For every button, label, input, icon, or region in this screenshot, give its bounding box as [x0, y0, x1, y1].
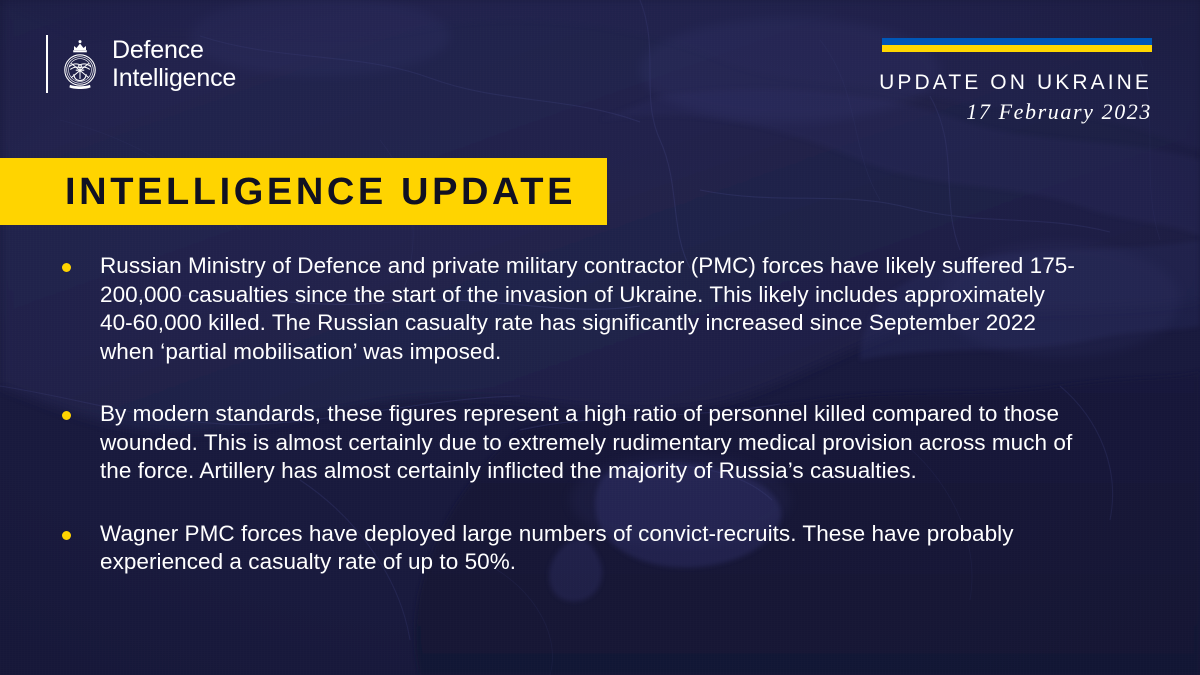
list-item: By modern standards, these figures repre…	[62, 400, 1082, 486]
update-date: 17 February 2023	[652, 97, 1152, 127]
bullet-dot-icon	[62, 411, 71, 420]
bullet-text: By modern standards, these figures repre…	[100, 400, 1075, 486]
logo-wordmark-line1: Defence	[112, 36, 236, 64]
bullet-dot-icon	[62, 531, 71, 540]
royal-crest-icon	[61, 37, 99, 91]
bullet-text: Wagner PMC forces have deployed large nu…	[100, 520, 1075, 577]
ukraine-flag-bar	[882, 38, 1152, 52]
flag-blue-stripe	[882, 38, 1152, 45]
list-item: Russian Ministry of Defence and private …	[62, 252, 1082, 366]
bullet-dot-icon	[62, 263, 71, 272]
logo-divider-rule	[46, 35, 48, 93]
bullet-text: Russian Ministry of Defence and private …	[100, 252, 1075, 366]
logo-wordmark: Defence Intelligence	[112, 36, 236, 92]
defence-intelligence-logo: Defence Intelligence	[46, 33, 236, 95]
intelligence-update-banner-label: INTELLIGENCE UPDATE	[65, 172, 576, 212]
logo-wordmark-line2: Intelligence	[112, 64, 236, 92]
header-right-block: UPDATE ON UKRAINE 17 February 2023	[652, 70, 1152, 127]
flag-yellow-stripe	[882, 45, 1152, 52]
list-item: Wagner PMC forces have deployed large nu…	[62, 520, 1082, 577]
bullet-list: Russian Ministry of Defence and private …	[62, 252, 1082, 577]
intelligence-update-slide: Defence Intelligence UPDATE ON UKRAINE 1…	[0, 0, 1200, 675]
intelligence-update-banner: INTELLIGENCE UPDATE	[0, 158, 607, 225]
update-on-ukraine-title: UPDATE ON UKRAINE	[652, 70, 1152, 96]
